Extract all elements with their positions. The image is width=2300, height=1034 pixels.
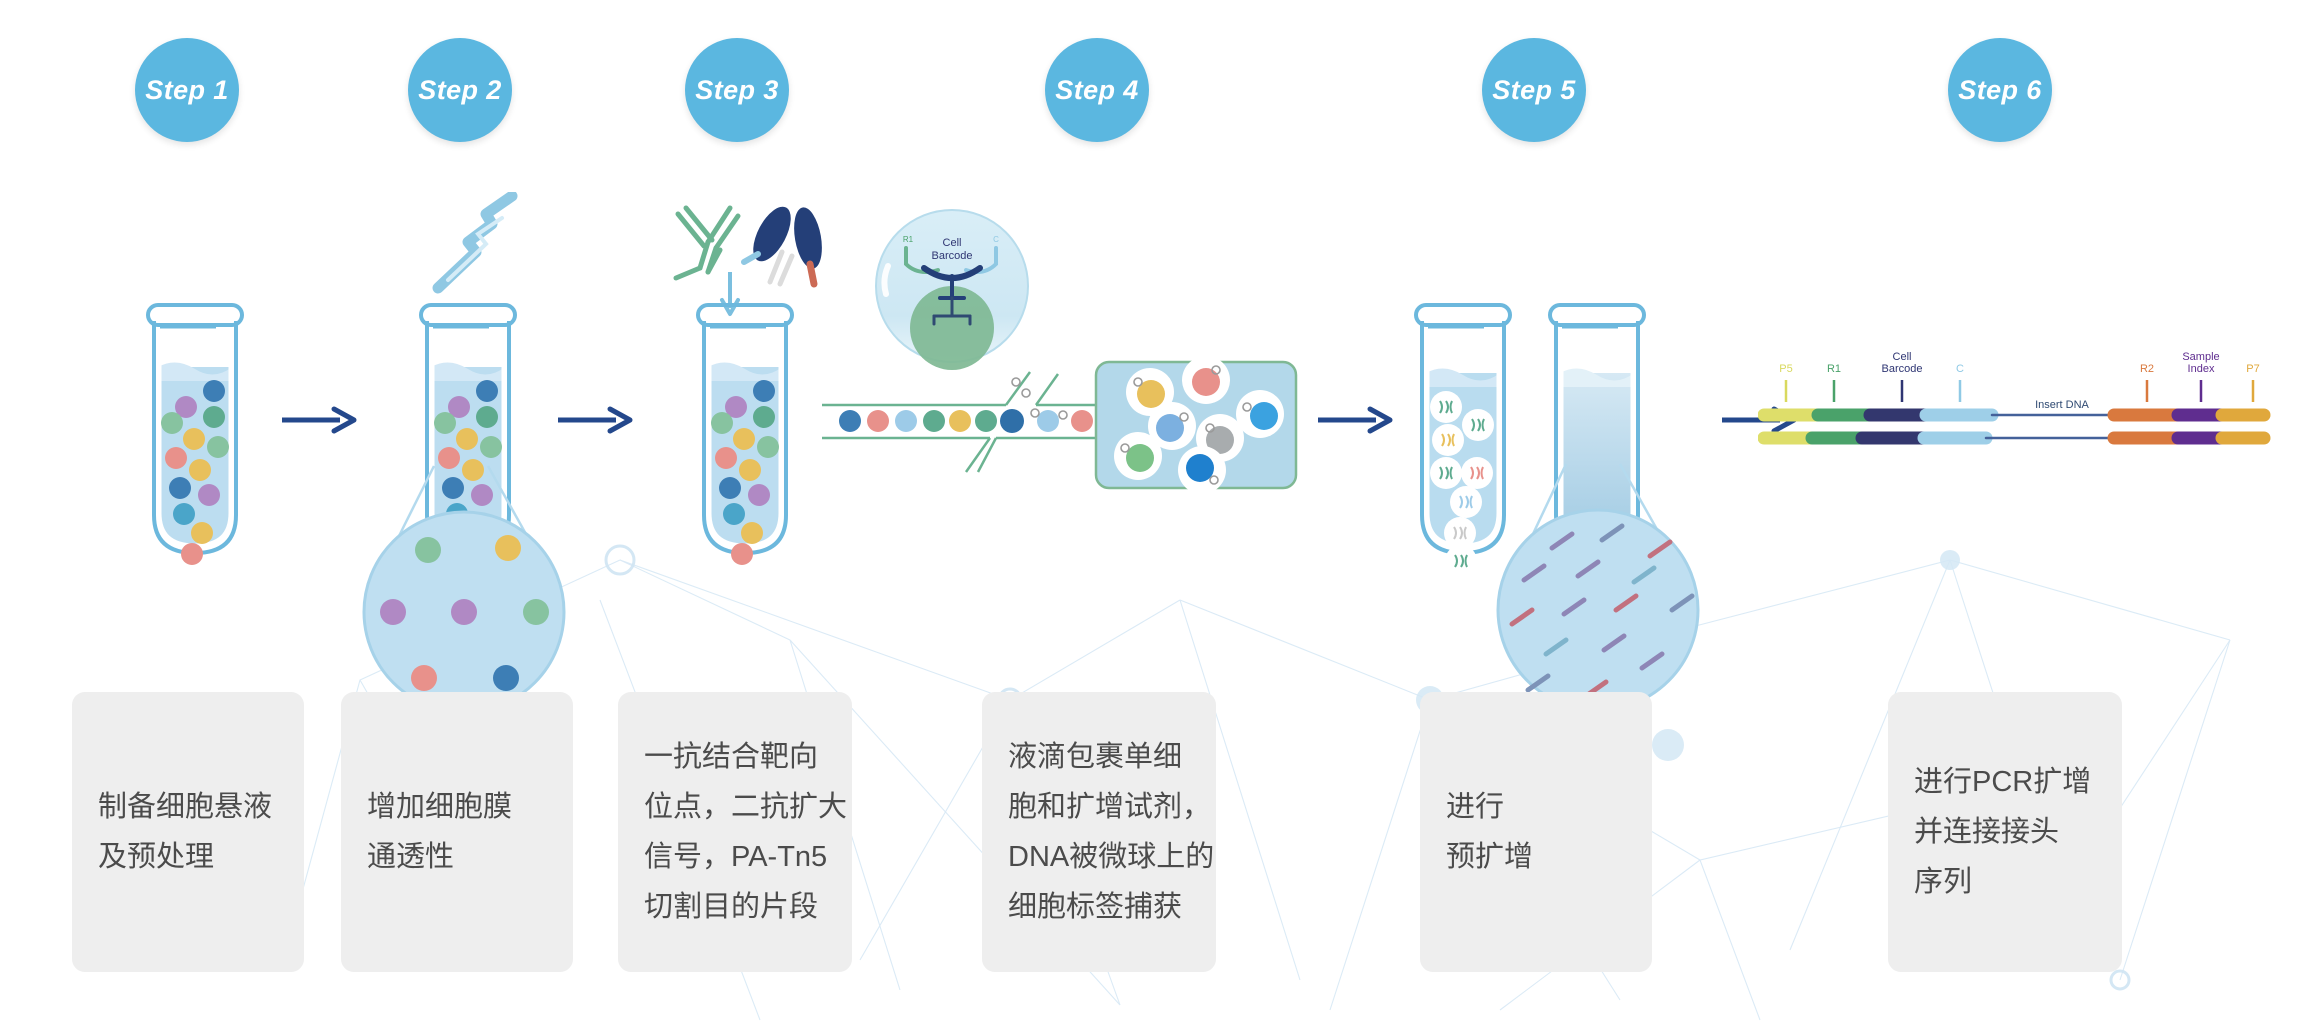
dna-label-sample-index-l2: Index xyxy=(2188,363,2215,375)
bead-tag-left: R1 xyxy=(903,235,914,244)
caption-line: DNA被微球上的 xyxy=(1008,832,1190,882)
step-badge-3: Step 3 xyxy=(685,38,789,142)
bead-label-line2: Barcode xyxy=(932,250,973,262)
bead-tag-right: C xyxy=(993,235,999,244)
step-badge-label: Step 4 xyxy=(1055,75,1138,106)
step-badge-5: Step 5 xyxy=(1482,38,1586,142)
step4-microfluidic-chip xyxy=(820,360,1310,520)
caption-line: 预扩增 xyxy=(1446,832,1626,882)
caption-line: 一抗结合靶向 xyxy=(644,732,826,782)
step-badge-label: Step 3 xyxy=(695,75,778,106)
caption-step-4: 液滴包裹单细 胞和扩增试剂， DNA被微球上的 细胞标签捕获 xyxy=(982,692,1216,972)
step5-magnified-dna-fragments xyxy=(1490,458,1720,718)
step2-magnified-cells xyxy=(360,460,580,720)
caption-line: 序列 xyxy=(1914,857,2096,907)
caption-step-6: 进行PCR扩增 并连接接头 序列 xyxy=(1888,692,2122,972)
channel-cell-queue xyxy=(839,409,1093,433)
caption-line: 位点，二抗扩大 xyxy=(644,782,826,832)
dna-label-r1: R1 xyxy=(1827,363,1841,375)
caption-step-3: 一抗结合靶向 位点，二抗扩大 信号，PA-Tn5 切割目的片段 xyxy=(618,692,852,972)
caption-line: 胞和扩增试剂， xyxy=(1008,782,1190,832)
caption-line: 并连接接头 xyxy=(1914,807,2096,857)
dna-label-c: C xyxy=(1956,363,1964,375)
caption-step-5: 进行 预扩增 xyxy=(1420,692,1652,972)
step-badge-label: Step 5 xyxy=(1492,75,1575,106)
pa-tn5-icon xyxy=(744,201,826,284)
step-badge-label: Step 2 xyxy=(418,75,501,106)
primary-antibody-icon xyxy=(676,208,738,278)
caption-line: 增加细胞膜 xyxy=(367,782,547,832)
dna-label-sample-index-l1: Sample xyxy=(2182,351,2219,363)
step-badge-2: Step 2 xyxy=(408,38,512,142)
caption-line: 进行 xyxy=(1446,782,1626,832)
step-badge-1: Step 1 xyxy=(135,38,239,142)
caption-line: 通透性 xyxy=(367,832,547,882)
caption-step-1: 制备细胞悬液 及预处理 xyxy=(72,692,304,972)
dna-label-p7: P7 xyxy=(2246,363,2259,375)
caption-line: 液滴包裹单细 xyxy=(1008,732,1190,782)
step6-dna-library-construct: P5 R1 Cell Barcode C Insert DNA R2 Sampl… xyxy=(1758,330,2300,460)
step-badge-4: Step 4 xyxy=(1045,38,1149,142)
arrow-step1-step2 xyxy=(282,405,358,435)
caption-line: 信号，PA-Tn5 xyxy=(644,832,826,882)
workflow-diagram: Step 1 Step 2 Step 3 Step 4 Step 5 Step … xyxy=(0,0,2300,1034)
dna-label-p5: P5 xyxy=(1779,363,1792,375)
step4-barcode-bead-bubble: Cell Barcode R1 C xyxy=(862,198,1042,378)
arrow-step2-step3 xyxy=(558,405,634,435)
step3-tube-with-cells xyxy=(680,295,810,575)
bead-label-line1: Cell xyxy=(943,237,962,249)
caption-line: 细胞标签捕获 xyxy=(1008,882,1190,932)
dna-label-r2: R2 xyxy=(2140,363,2154,375)
step2-permeabilization-icon xyxy=(430,192,540,297)
caption-line: 进行PCR扩增 xyxy=(1914,757,2096,807)
dna-label-ticks xyxy=(1786,380,2253,402)
dna-label-insert-dna: Insert DNA xyxy=(2035,399,2089,411)
step-badge-6: Step 6 xyxy=(1948,38,2052,142)
caption-step-2: 增加细胞膜 通透性 xyxy=(341,692,573,972)
arrow-step4-step5 xyxy=(1318,405,1394,435)
step1-tube-with-cells xyxy=(130,295,260,575)
caption-line: 制备细胞悬液 xyxy=(98,782,278,832)
step-badge-label: Step 6 xyxy=(1958,75,2041,106)
dna-label-cell-barcode-l2: Barcode xyxy=(1882,363,1923,375)
caption-line: 及预处理 xyxy=(98,832,278,882)
dna-label-cell-barcode-l1: Cell xyxy=(1893,351,1912,363)
caption-line: 切割目的片段 xyxy=(644,882,826,932)
step-badge-label: Step 1 xyxy=(145,75,228,106)
